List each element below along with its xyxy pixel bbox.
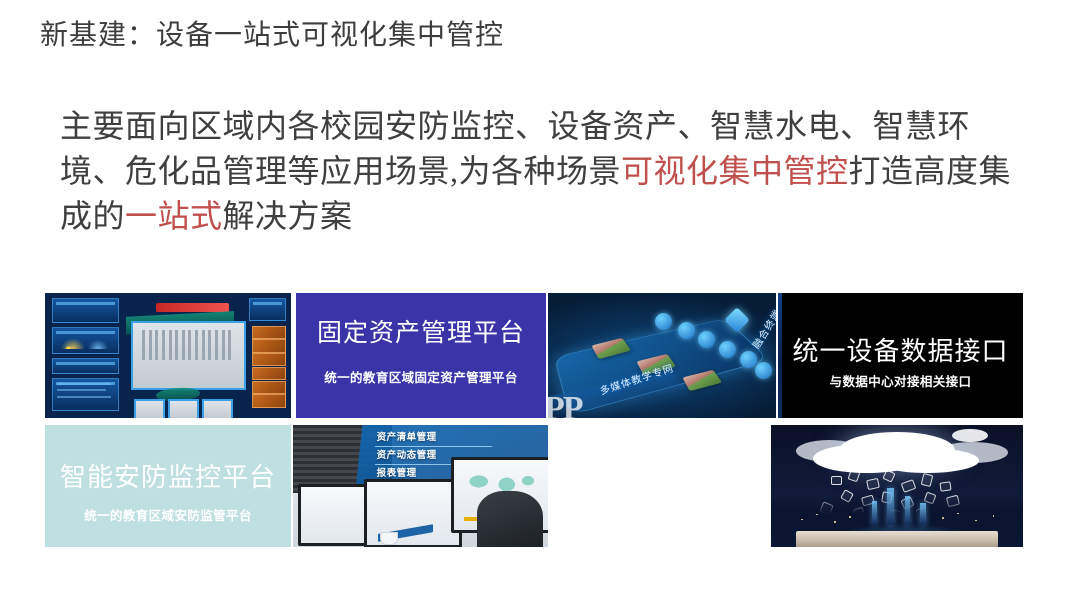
paragraph-accent-one-stop: 一站式 [125, 198, 223, 234]
smart-security-subtitle: 统一的教育区域安防监管平台 [45, 505, 291, 524]
fixed-asset-platform-subtitle: 统一的教育区域固定资产管理平台 [296, 367, 546, 386]
unified-interface-background: 统一设备数据接口 与数据中心对接相关接口 [778, 293, 1023, 418]
smart-security-background: 智能安防监控平台 统一的教育区域安防监管平台 [45, 425, 291, 547]
desk-cup [380, 532, 398, 545]
unified-interface-subtitle: 与数据中心对接相关接口 [778, 371, 1023, 390]
desk-surface [796, 531, 998, 547]
card-multimedia-teaching-network[interactable]: 融合终端 多媒体教学专网 PP [548, 293, 776, 418]
menu-item-asset-inventory[interactable]: 资产清单管理 [375, 429, 492, 447]
fixed-asset-platform-background: 固定资产管理平台 统一的教育区域固定资产管理平台 [296, 293, 546, 418]
card-cloud-computing-city[interactable] [771, 425, 1023, 547]
multimedia-network-illustration: 融合终端 多媒体教学专网 PP [548, 293, 776, 418]
card-fixed-asset-platform[interactable]: 固定资产管理平台 统一的教育区域固定资产管理平台 [296, 293, 546, 418]
body-paragraph: 主要面向区域内各校园安防监控、设备资产、智慧水电、智慧环境、危化品管理等应用场景… [60, 104, 1020, 239]
card-grid: 固定资产管理平台 统一的教育区域固定资产管理平台 融合终端 多媒体教学专网 PP [45, 293, 1025, 548]
control-room-dashboard-image [45, 293, 291, 418]
asset-workstation-image: 资产清单管理 资产动态管理 报表管理 [293, 425, 548, 547]
card-asset-monitor-workstation[interactable]: 资产清单管理 资产动态管理 报表管理 [293, 425, 548, 547]
cloud-computing-image [771, 425, 1023, 547]
paragraph-accent-visual-control: 可视化集中管控 [621, 153, 849, 189]
cloud-icon [839, 432, 955, 469]
card-control-room-dashboard[interactable] [45, 293, 291, 418]
operator-silhouette [477, 491, 543, 547]
page-title: 新基建：设备一站式可视化集中管控 [40, 16, 504, 56]
paragraph-segment-3: 解决方案 [223, 198, 353, 234]
fusion-terminal-label: 融合终端 [748, 305, 776, 350]
smart-security-title: 智能安防监控平台 [45, 457, 291, 494]
fixed-asset-platform-title: 固定资产管理平台 [296, 313, 546, 349]
card-smart-security-platform[interactable]: 智能安防监控平台 统一的教育区域安防监管平台 [45, 425, 291, 547]
watermark-text: PP [548, 390, 582, 418]
card-unified-device-data-interface[interactable]: 统一设备数据接口 与数据中心对接相关接口 [778, 293, 1023, 418]
unified-interface-title: 统一设备数据接口 [778, 331, 1023, 368]
